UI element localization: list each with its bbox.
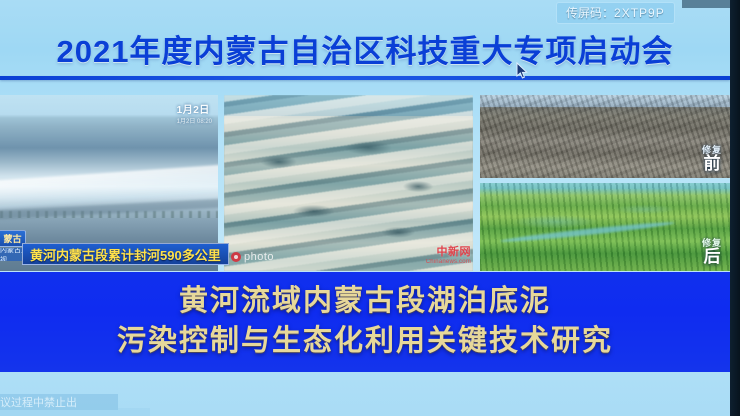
- bottom-notice-strip: [0, 408, 150, 416]
- photo-watermark-icon: [231, 252, 241, 262]
- panel-tag-after: 修复 后: [702, 239, 722, 265]
- panel-tag-before: 修复 前: [702, 146, 722, 172]
- main-title-band: 黄河流域内蒙古段湖泊底泥 污染控制与生态化利用关键技术研究: [0, 272, 730, 372]
- screen-bezel-top-right: [682, 0, 730, 8]
- timestamp-date: 1月2日: [177, 105, 210, 116]
- mouse-cursor-icon: [516, 62, 528, 80]
- header-title: 2021年度内蒙古自治区科技重大专项启动会: [57, 26, 674, 71]
- panel-tag-before-main: 前: [702, 155, 722, 172]
- photo-watermark: photo: [231, 251, 274, 263]
- cast-code-label: 传屏码：: [566, 6, 614, 20]
- main-title-line-1: 黄河流域内蒙古段湖泊底泥: [179, 283, 551, 321]
- panel-tag-after-main: 后: [702, 248, 722, 265]
- chinanews-watermark: 中新网 Chinanews.com: [426, 243, 471, 265]
- main-title-line-2: 污染控制与生态化利用关键技术研究: [117, 323, 613, 361]
- chinanews-watermark-cn: 中新网: [426, 243, 471, 259]
- header-divider: [0, 76, 730, 80]
- news-lower-third-caption: 黄河内蒙古段累计封河590多公里: [22, 243, 229, 265]
- photo-watermark-label: photo: [244, 251, 274, 263]
- news-caption-text: 黄河内蒙古段累计封河590多公里: [30, 245, 221, 264]
- cast-code-value: 2XTP9P: [614, 6, 665, 20]
- presentation-slide: 传屏码：2XTP9P 2021年度内蒙古自治区科技重大专项启动会 1月2日 1月…: [0, 0, 740, 416]
- panel-eroded-gully-before: 修复 前: [480, 95, 730, 178]
- panel-restored-wetland-after: 修复 后: [480, 183, 730, 271]
- chinanews-watermark-en: Chinanews.com: [426, 259, 471, 265]
- broadcast-timestamp: 1月2日 1月2日 08:20: [177, 101, 212, 125]
- timestamp-detail: 1月2日 08:20: [177, 116, 212, 125]
- slide-header: 2021年度内蒙古自治区科技重大专项启动会: [0, 22, 730, 74]
- screen-cast-code: 传屏码：2XTP9P: [556, 2, 675, 24]
- gully-texture: [480, 95, 730, 178]
- screen-bezel-right: [730, 0, 740, 416]
